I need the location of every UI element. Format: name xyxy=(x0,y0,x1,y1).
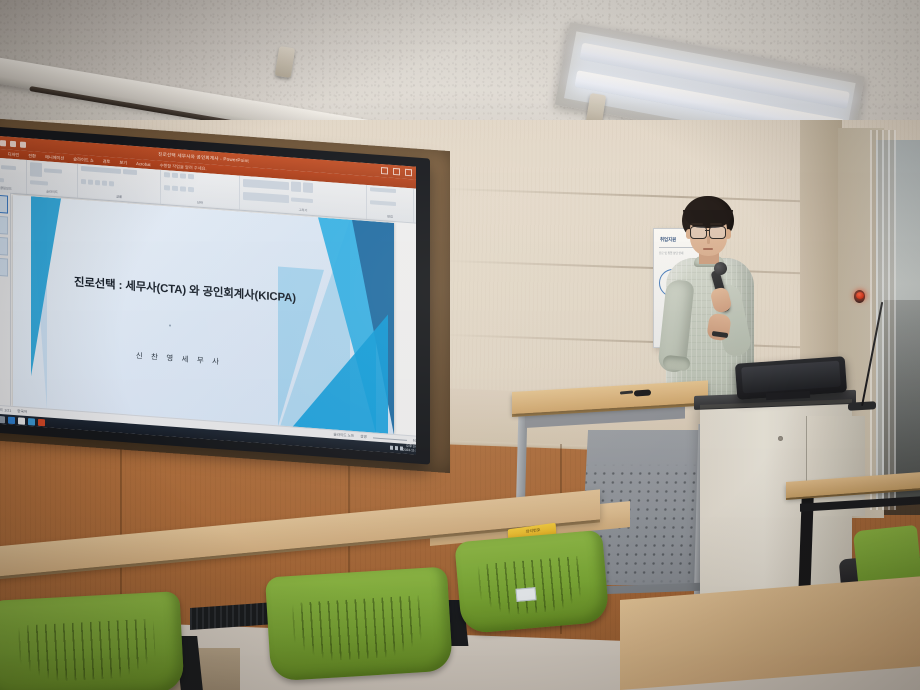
restore-icon[interactable] xyxy=(393,168,400,176)
tab-review[interactable]: 검토 xyxy=(103,158,111,165)
tab-acrobat[interactable]: Acrobat xyxy=(136,161,150,167)
microphone-power-led-icon xyxy=(856,292,864,299)
presentation-remote xyxy=(634,389,651,396)
ribbon-group-slides[interactable]: 슬라이드 xyxy=(27,160,78,198)
columns-icon[interactable] xyxy=(188,186,194,191)
new-slide-icon[interactable] xyxy=(30,162,42,177)
quick-access-toolbar[interactable] xyxy=(0,139,26,148)
tab-view[interactable]: 보기 xyxy=(119,159,127,166)
slide-thumbnail-pane[interactable] xyxy=(0,191,11,409)
edge-icon[interactable] xyxy=(8,416,15,424)
glasses-lens-right xyxy=(709,226,726,239)
taskbar-pinned-icons[interactable] xyxy=(0,415,45,425)
redo-icon[interactable] xyxy=(10,140,16,146)
tab-design[interactable]: 디자인 xyxy=(8,151,20,158)
chair-label-tag xyxy=(515,587,536,602)
tab-transitions[interactable]: 전환 xyxy=(28,153,36,160)
chair-center-front xyxy=(268,572,450,676)
indent-icon[interactable] xyxy=(180,173,186,178)
align-left-icon[interactable] xyxy=(164,185,170,190)
ribbon-group-clipboard[interactable]: 클립보드 xyxy=(0,157,27,194)
shape-fill-icon[interactable] xyxy=(291,197,313,203)
slide-thumbnail-2[interactable] xyxy=(0,215,8,234)
copy-icon[interactable] xyxy=(0,177,4,182)
chair-backrest xyxy=(454,530,609,635)
powerpoint-window[interactable]: 진로선택 세무사와 공인회계사 - PowerPoint 파일 디자인 전환 애… xyxy=(0,135,416,455)
shapes-gallery[interactable] xyxy=(243,179,289,190)
language-indicator[interactable]: 한국어 xyxy=(17,409,27,415)
ribbon-group-label-clipboard: 클립보드 xyxy=(0,184,23,191)
underline-icon[interactable] xyxy=(95,180,100,185)
align-right-icon[interactable] xyxy=(180,186,186,191)
cut-icon[interactable] xyxy=(1,165,16,170)
chair-right-front xyxy=(458,536,606,628)
presenter-nose xyxy=(707,236,710,244)
bold-icon[interactable] xyxy=(81,178,86,183)
podium-lock-icon xyxy=(778,436,783,441)
clock-date: 2023-11-21 xyxy=(403,448,416,453)
italic-icon[interactable] xyxy=(88,179,93,184)
undo-icon[interactable] xyxy=(0,140,6,146)
presenter-eyebrow-right xyxy=(710,223,722,225)
arrange-icon[interactable] xyxy=(291,181,301,192)
align-center-icon[interactable] xyxy=(172,185,178,190)
slide-canvas[interactable]: 진로선택 : 세무사(CTA) 와 공인회계사(KICPA) 신 찬 영 세 무… xyxy=(13,195,394,435)
lecture-room-photo: 진로선택 세무사와 공인회계사 - PowerPoint 파일 디자인 전환 애… xyxy=(0,0,920,690)
replace-icon[interactable] xyxy=(370,200,396,206)
powerpoint-icon[interactable] xyxy=(38,418,45,426)
explorer-icon[interactable] xyxy=(28,418,35,426)
slide-thumbnail-1[interactable] xyxy=(0,194,8,213)
numbering-icon[interactable] xyxy=(172,173,178,178)
presenter-eyebrow-left xyxy=(691,223,703,225)
minimize-icon[interactable] xyxy=(381,167,388,175)
taskbar-clock[interactable]: 오후 3:09 2023-11-21 xyxy=(403,445,416,453)
reset-icon[interactable] xyxy=(30,180,48,185)
ribbon-group-label-editing: 편집 xyxy=(370,212,410,220)
chair-backrest xyxy=(265,567,453,682)
window-controls[interactable] xyxy=(381,167,416,177)
ribbon-group-label-paragraph: 단락 xyxy=(164,197,236,207)
network-icon[interactable] xyxy=(390,446,393,450)
tab-animations[interactable]: 애니메이션 xyxy=(45,154,64,161)
notes-button[interactable]: 슬라이드 노트 xyxy=(333,432,354,439)
task-view-icon[interactable] xyxy=(0,415,5,423)
chrome-icon[interactable] xyxy=(18,417,25,425)
slide-thumbnail-4[interactable] xyxy=(0,257,8,276)
chair-left-front xyxy=(0,596,182,690)
slide-cursor-dot xyxy=(169,324,171,326)
slide-thumbnail-3[interactable] xyxy=(0,236,8,255)
slide-indicator: 슬라이드 1/21 xyxy=(0,407,11,414)
bullets-icon[interactable] xyxy=(164,172,170,177)
glasses-lens-left xyxy=(690,226,707,239)
ribbon-group-paragraph[interactable]: 단락 xyxy=(161,170,240,210)
volume-icon[interactable] xyxy=(395,446,398,450)
presenter-sleeve-cuff xyxy=(662,355,690,372)
layout-icon[interactable] xyxy=(44,168,62,173)
display-screen[interactable]: 진로선택 세무사와 공인회계사 - PowerPoint 파일 디자인 전환 애… xyxy=(0,135,416,455)
zoom-slider[interactable] xyxy=(373,437,407,440)
chair-vent-slots xyxy=(17,618,157,683)
shadow-icon[interactable] xyxy=(102,180,107,185)
glasses-bridge xyxy=(705,230,710,231)
close-icon[interactable] xyxy=(405,169,412,177)
system-tray[interactable] xyxy=(390,446,403,451)
ribbon-group-label-slides: 슬라이드 xyxy=(30,187,74,195)
sheer-curtain xyxy=(870,130,896,510)
ribbon-group-editing[interactable]: 편집 xyxy=(367,185,414,222)
font-color-icon[interactable] xyxy=(109,181,114,186)
presenter-mouth xyxy=(703,248,713,250)
font-size-box[interactable] xyxy=(123,169,137,175)
line-spacing-icon[interactable] xyxy=(188,174,194,179)
quick-styles-icon[interactable] xyxy=(303,182,313,193)
find-icon[interactable] xyxy=(370,187,396,193)
chair-backrest xyxy=(0,591,184,690)
font-name-box[interactable] xyxy=(81,166,121,174)
comments-button[interactable]: 설명 xyxy=(360,434,367,439)
tab-slideshow[interactable]: 슬라이드 쇼 xyxy=(73,156,93,164)
shapes-gallery-row2[interactable] xyxy=(243,191,289,202)
chair-vent-slots xyxy=(292,595,426,663)
ribbon-group-font[interactable]: 글꼴 xyxy=(78,164,161,204)
zoom-level[interactable]: 62% xyxy=(413,438,416,443)
